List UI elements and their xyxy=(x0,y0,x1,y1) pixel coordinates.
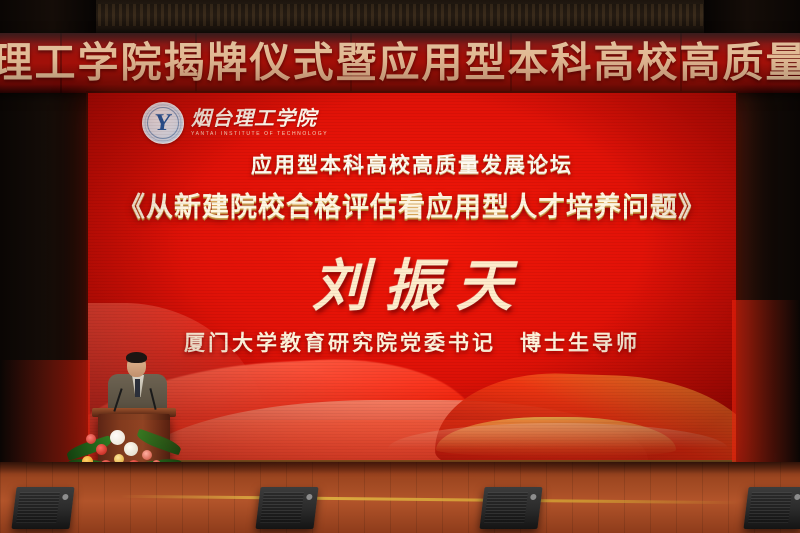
stage-light-wash-right xyxy=(732,300,800,465)
stage-floor xyxy=(0,462,800,533)
overhead-banner: 台理工学院揭牌仪式暨应用型本科高校高质量发 xyxy=(0,33,800,93)
floor-monitor-speaker xyxy=(255,487,318,529)
stage-photo: 台理工学院揭牌仪式暨应用型本科高校高质量发 Y 烟台理工学院 YANTAI IN… xyxy=(0,0,800,533)
speaker-name: 刘振天 xyxy=(88,241,736,322)
silk-ribbon-gold-highlight xyxy=(436,417,676,457)
university-logo: Y 烟台理工学院 YANTAI INSTITUTE OF TECHNOLOGY xyxy=(142,102,328,144)
university-name-en: YANTAI INSTITUTE OF TECHNOLOGY xyxy=(191,132,328,137)
floor-monitor-speaker xyxy=(479,487,542,529)
speaker-hair xyxy=(126,352,147,363)
lecture-topic: 《从新建院校合格评估看应用型人才培养问题》 xyxy=(88,185,736,224)
floor-monitor-speaker xyxy=(743,487,800,529)
forum-title: 应用型本科高校高质量发展论坛 xyxy=(88,149,736,179)
university-name-cn: 烟台理工学院 xyxy=(191,109,328,129)
silk-ribbon-3 xyxy=(434,369,736,465)
overhead-banner-text: 台理工学院揭牌仪式暨应用型本科高校高质量发 xyxy=(0,43,800,84)
silk-ribbon-sheen xyxy=(388,423,728,449)
speaker-tie xyxy=(135,379,140,397)
hall-ceiling xyxy=(0,0,800,34)
floor-monitor-speaker xyxy=(11,487,74,529)
university-seal-icon: Y xyxy=(142,102,184,144)
